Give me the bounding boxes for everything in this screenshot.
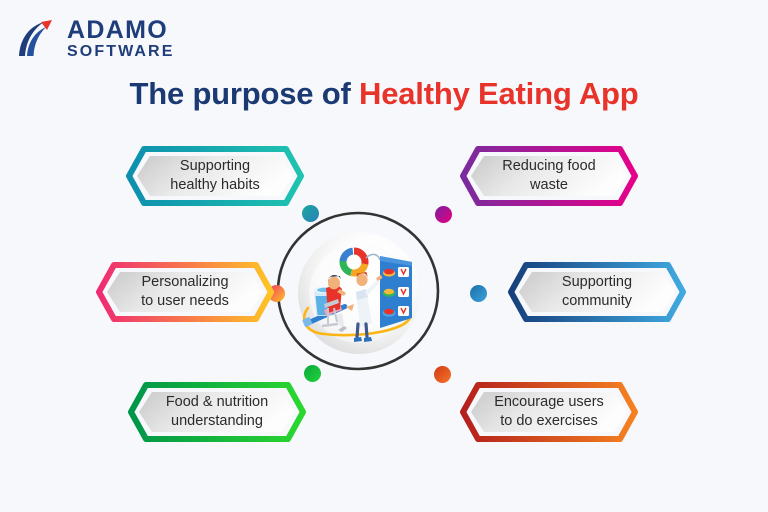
logo-line-adamo: ADAMO bbox=[67, 18, 174, 43]
infographic-canvas: ADAMO SOFTWARE The purpose of Healthy Ea… bbox=[0, 0, 768, 512]
node-personalizing-to-user-needs[interactable]: Personalizing to user needs bbox=[96, 262, 274, 322]
page-title: The purpose of Healthy Eating App bbox=[0, 76, 768, 112]
title-part-purpose: The purpose of bbox=[130, 76, 360, 111]
node-line1: Reducing food bbox=[502, 157, 596, 176]
node-reducing-food-waste[interactable]: Reducing food waste bbox=[460, 146, 638, 206]
node-supporting-community[interactable]: Supporting community bbox=[508, 262, 686, 322]
logo-wordmark: ADAMO SOFTWARE bbox=[67, 18, 174, 60]
connector-dot-encourage-users-to-do-exercises bbox=[434, 366, 451, 383]
node-label-encourage-users-to-do-exercises: Encourage users to do exercises bbox=[460, 382, 638, 442]
node-line2: community bbox=[562, 292, 632, 311]
node-label-reducing-food-waste: Reducing food waste bbox=[460, 146, 638, 206]
connector-dot-food-nutrition-understanding bbox=[304, 365, 321, 382]
connector-dot-supporting-healthy-habits bbox=[302, 205, 319, 222]
node-line1: Encourage users bbox=[494, 393, 604, 412]
node-line2: waste bbox=[530, 176, 568, 195]
nutrition-consultation-illustration-icon bbox=[294, 234, 426, 354]
title-part-app-name: Healthy Eating App bbox=[359, 76, 638, 111]
node-encourage-users-to-do-exercises[interactable]: Encourage users to do exercises bbox=[460, 382, 638, 442]
node-line1: Supporting bbox=[562, 273, 632, 292]
node-supporting-healthy-habits[interactable]: Supporting healthy habits bbox=[126, 146, 304, 206]
node-label-supporting-healthy-habits: Supporting healthy habits bbox=[126, 146, 304, 206]
node-line2: understanding bbox=[171, 412, 263, 431]
connector-dot-supporting-community bbox=[470, 285, 487, 302]
logo-line-software: SOFTWARE bbox=[67, 44, 174, 60]
node-line1: Supporting bbox=[180, 157, 250, 176]
node-label-food-nutrition-understanding: Food & nutrition understanding bbox=[128, 382, 306, 442]
node-line2: healthy habits bbox=[170, 176, 259, 195]
node-line1: Personalizing bbox=[141, 273, 228, 292]
connector-dot-reducing-food-waste bbox=[435, 206, 452, 223]
center-hub bbox=[276, 212, 444, 374]
adamo-arrow-logo-icon bbox=[14, 16, 60, 62]
node-line1: Food & nutrition bbox=[166, 393, 268, 412]
node-label-personalizing-to-user-needs: Personalizing to user needs bbox=[96, 262, 274, 322]
adamo-software-logo: ADAMO SOFTWARE bbox=[14, 12, 244, 66]
node-label-supporting-community: Supporting community bbox=[508, 262, 686, 322]
node-line2: to do exercises bbox=[500, 412, 598, 431]
node-food-nutrition-understanding[interactable]: Food & nutrition understanding bbox=[128, 382, 306, 442]
node-line2: to user needs bbox=[141, 292, 229, 311]
